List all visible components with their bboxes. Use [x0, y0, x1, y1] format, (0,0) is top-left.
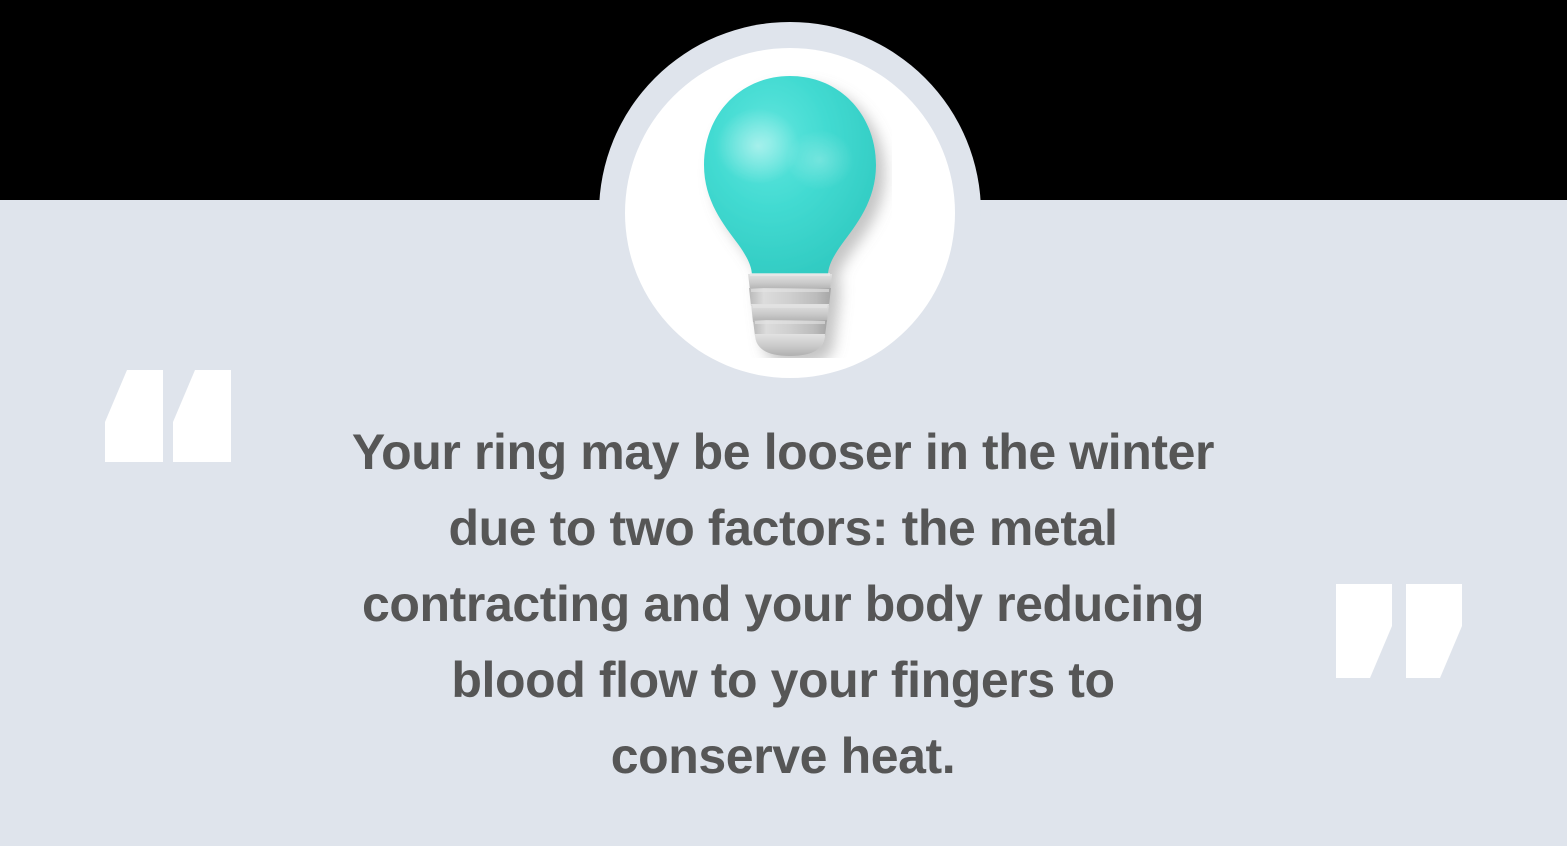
lightbulb-icon: [688, 68, 892, 358]
tip-card-screenshot: Your ring may be looser in the winter du…: [0, 0, 1567, 846]
quote-open-icon: [103, 368, 233, 464]
quote-text: Your ring may be looser in the winter du…: [283, 414, 1283, 794]
quote-close-icon: [1334, 582, 1466, 680]
